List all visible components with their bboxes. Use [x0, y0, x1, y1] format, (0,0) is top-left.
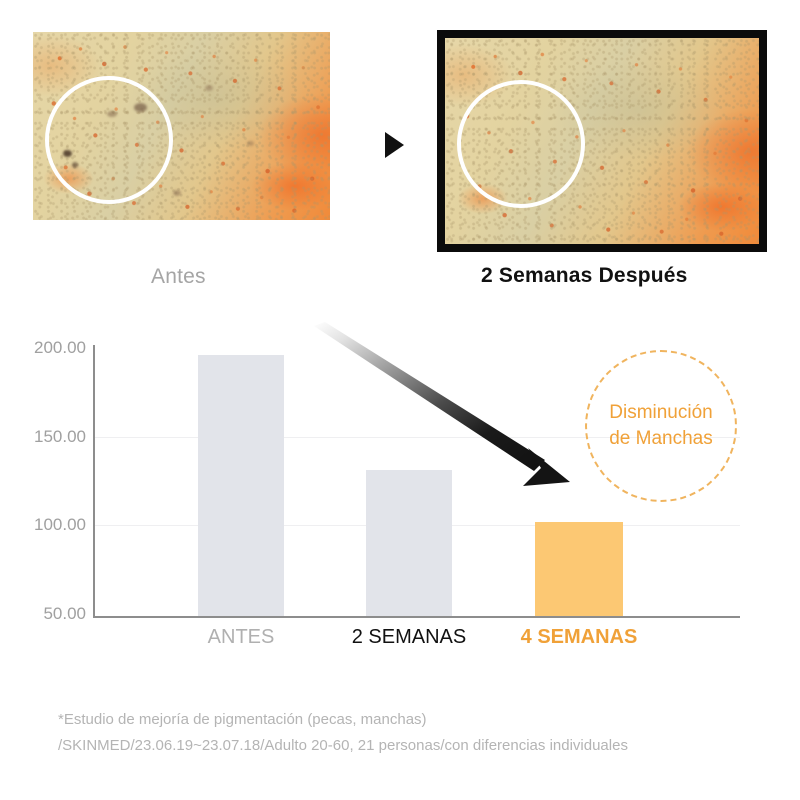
pigmentation-bar-chart: 200.00 150.00 100.00 50.00 ANTES 2 SEMAN…	[0, 320, 800, 680]
footnote-line-1: *Estudio de mejoría de pigmentación (pec…	[58, 707, 758, 733]
after-caption: 2 Semanas Después	[481, 264, 688, 288]
badge-line-1: Disminución	[609, 400, 712, 426]
after-photo	[437, 30, 767, 252]
after-highlight-circle	[457, 80, 585, 208]
play-triangle-icon	[385, 132, 404, 158]
skin-image-after	[445, 38, 759, 244]
badge-line-2: de Manchas	[609, 426, 713, 452]
pigment-spot	[173, 190, 181, 196]
pigment-spot	[247, 141, 254, 146]
before-photo	[33, 32, 330, 220]
photo-comparison-section: Antes 2 Semanas Después	[0, 0, 800, 300]
decrease-badge: Disminución de Manchas	[585, 350, 737, 502]
x-label-2-semanas: 2 SEMANAS	[328, 626, 490, 649]
after-photo-frame	[437, 30, 767, 252]
skin-image-before	[33, 32, 330, 220]
x-label-4-semanas: 4 SEMANAS	[498, 626, 660, 649]
before-highlight-circle	[45, 76, 173, 204]
footnote: *Estudio de mejoría de pigmentación (pec…	[58, 707, 758, 760]
x-label-antes: ANTES	[198, 626, 284, 649]
pigment-spot	[205, 85, 213, 91]
before-caption: Antes	[151, 265, 206, 289]
footnote-line-2: /SKINMED/23.06.19~23.07.18/Adulto 20-60,…	[58, 733, 758, 759]
